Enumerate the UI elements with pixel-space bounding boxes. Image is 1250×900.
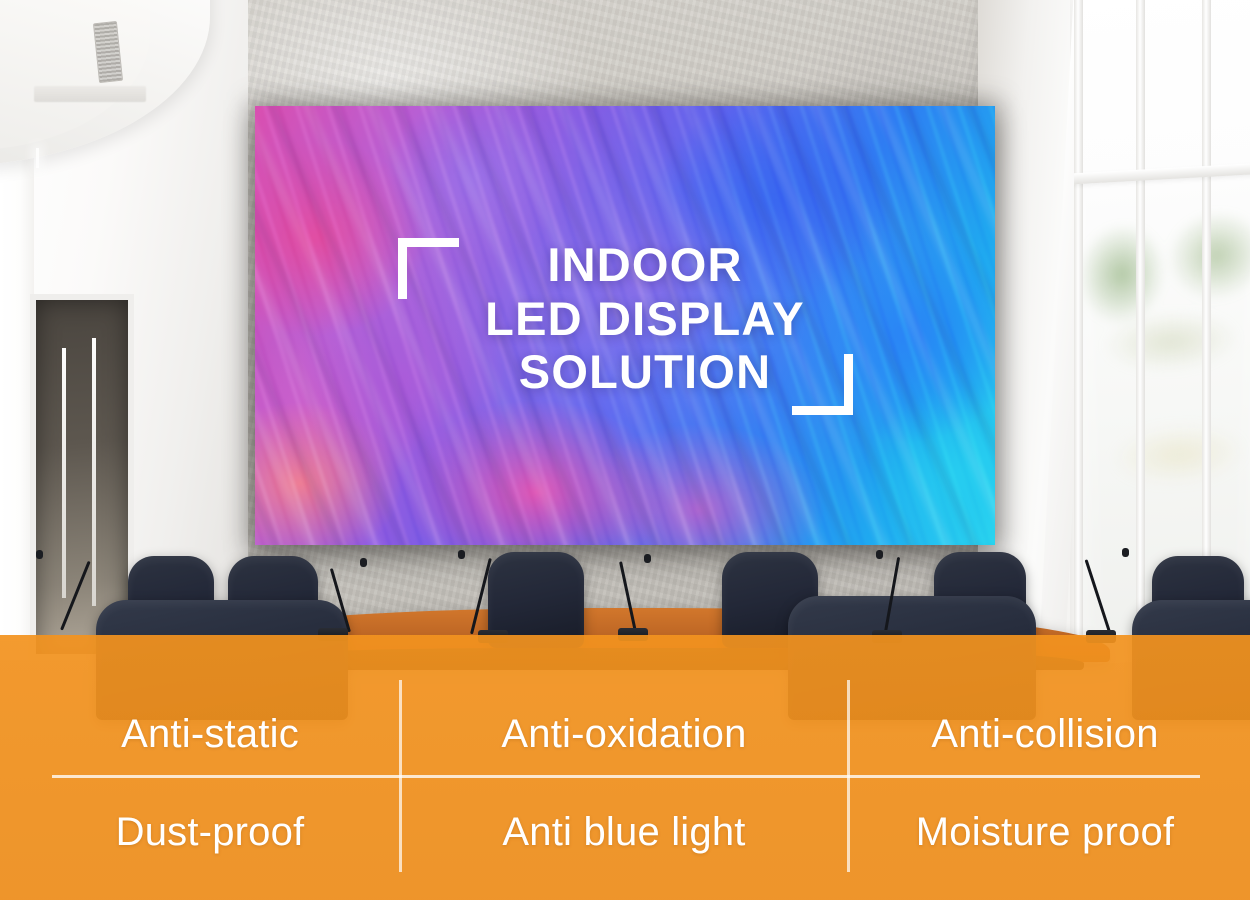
feature-dust-proof: Dust-proof — [20, 795, 400, 869]
microphone-head-icon — [644, 554, 651, 563]
marketing-banner-stage: INDOOR LED DISPLAY SOLUTION — [0, 0, 1250, 900]
feature-moisture-proof: Moisture proof — [850, 795, 1240, 869]
wall-light-icon — [36, 148, 39, 168]
feature-anti-collision: Anti-collision — [850, 697, 1240, 771]
microphone-head-icon — [360, 558, 367, 567]
feature-anti-oxidation: Anti-oxidation — [404, 697, 844, 771]
microphone-head-icon — [1122, 548, 1129, 557]
feature-divider-horizontal — [52, 775, 1200, 778]
headline-line-1: INDOOR — [295, 238, 995, 292]
microphone-head-icon — [36, 550, 43, 559]
led-display-panel[interactable]: INDOOR LED DISPLAY SOLUTION — [255, 106, 995, 545]
feature-anti-static: Anti-static — [20, 697, 400, 771]
feature-anti-blue-light: Anti blue light — [404, 795, 844, 869]
door-light-slit — [92, 338, 96, 606]
led-screen-headline: INDOOR LED DISPLAY SOLUTION — [255, 238, 995, 399]
window-glare — [1094, 405, 1250, 505]
ceiling-soffit-edge — [34, 86, 146, 102]
microphone-head-icon — [458, 550, 465, 559]
window-foliage-view — [1080, 180, 1250, 381]
headline-line-2: LED DISPLAY — [295, 292, 995, 346]
window-mullion-vertical — [1074, 0, 1083, 665]
door-light-slit — [62, 348, 66, 598]
microphone-head-icon — [876, 550, 883, 559]
window-mullion-horizontal — [1074, 163, 1250, 185]
window-mullion-vertical — [1136, 0, 1145, 662]
headline-line-3: SOLUTION — [295, 345, 995, 399]
feature-banner: Anti-static Anti-oxidation Anti-collisio… — [0, 635, 1250, 900]
